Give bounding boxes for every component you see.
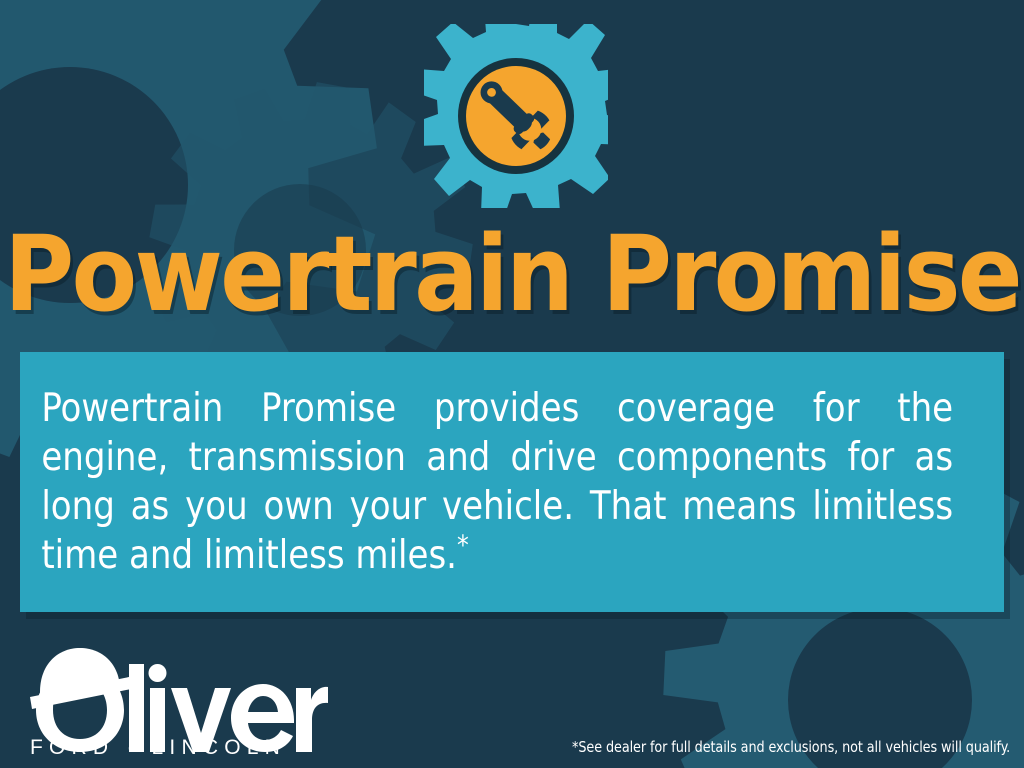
promise-body-text: Powertrain Promise provides coverage for… (20, 384, 974, 580)
logo-tagline-text: FORD · LINCOLN (30, 736, 286, 758)
logo-tagline: FORD · LINCOLN (30, 736, 286, 758)
promise-body-sentence: Powertrain Promise provides coverage for… (41, 386, 953, 578)
powertrain-promise-poster: Powertrain Promise Powertrain Promise pr… (0, 0, 1024, 768)
promise-description-panel: Powertrain Promise provides coverage for… (20, 352, 1004, 612)
gear-with-wrench-icon (424, 24, 608, 208)
headline-text: Powertrain Promise (4, 222, 1020, 326)
legal-disclaimer: *See dealer for full details and exclusi… (572, 738, 1010, 756)
oliver-ford-lincoln-logo: FORD · LINCOLN (28, 640, 328, 758)
poster-headline: Powertrain Promise (0, 216, 1024, 332)
footnote-asterisk: * (457, 530, 469, 561)
